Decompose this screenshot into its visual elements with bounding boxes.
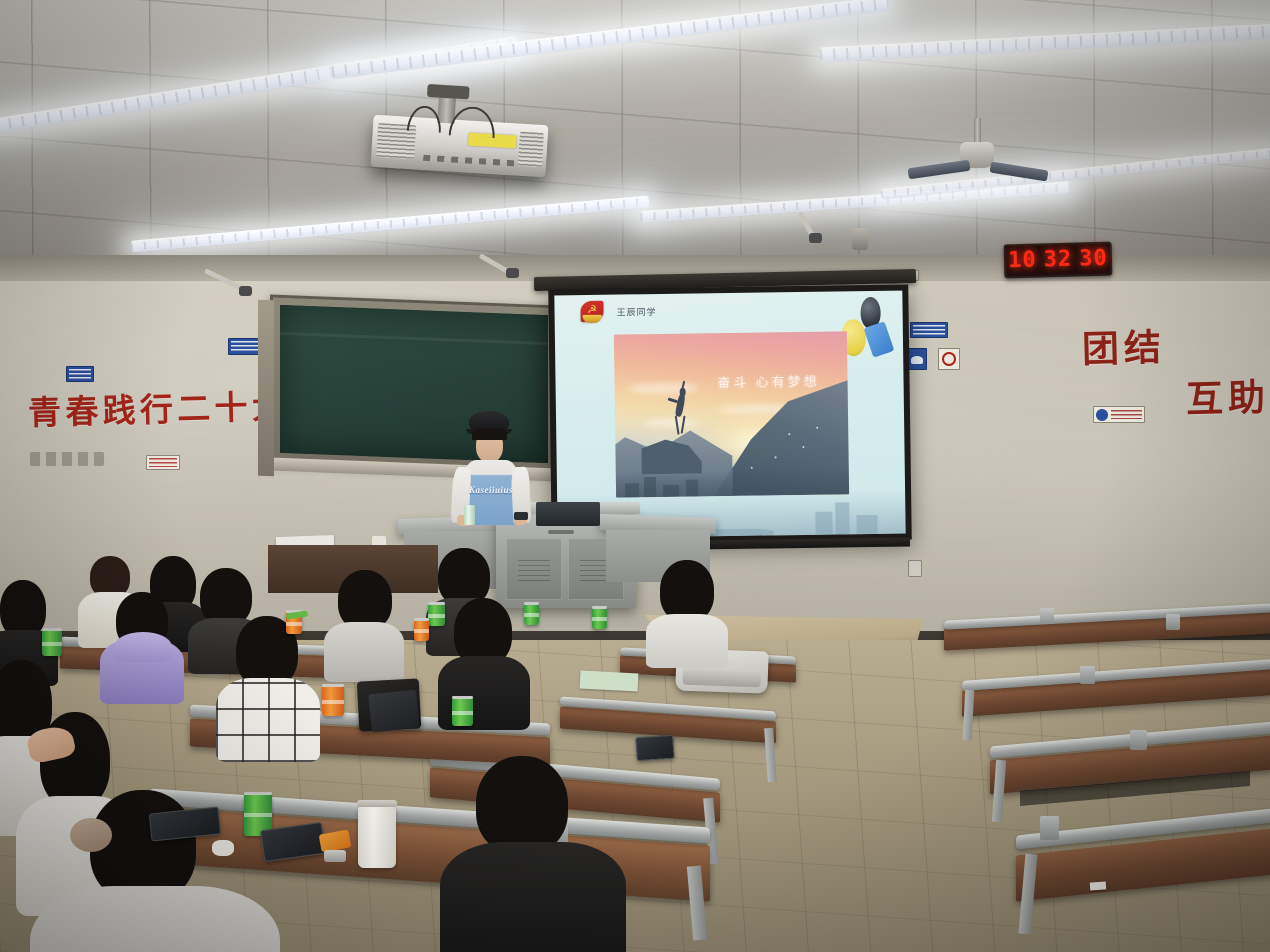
orange-soda-can xyxy=(322,686,344,716)
student-body xyxy=(30,886,280,952)
cpc-party-emblem-icon: ☭ xyxy=(580,301,603,322)
blackboard xyxy=(270,294,558,473)
camera-head xyxy=(239,286,252,296)
can-top xyxy=(322,684,344,687)
green-soda-can xyxy=(428,604,445,626)
student-hood xyxy=(114,632,172,662)
silhouette-leg-front xyxy=(674,415,679,434)
right-desk-row-1 xyxy=(944,606,1270,660)
can-label-band xyxy=(428,614,445,618)
bottle-cap xyxy=(357,800,397,807)
student-body xyxy=(216,678,320,762)
sign-text-lines xyxy=(913,325,945,335)
can-top xyxy=(244,792,272,795)
star-3 xyxy=(774,456,776,458)
ceiling-projector xyxy=(371,115,549,178)
desk-rail-clamp xyxy=(1040,608,1054,624)
green-paper-on-desk xyxy=(580,670,639,691)
desk-rail-clamp xyxy=(1040,816,1059,840)
silhouette-leg-back xyxy=(680,415,685,433)
camera-head xyxy=(809,233,822,243)
decoration-blue-shape xyxy=(864,321,895,358)
projector-ceiling-plate xyxy=(427,84,470,100)
silhouette-torso xyxy=(674,393,686,418)
jumping-person-silhouette xyxy=(666,384,697,440)
skyline-building-7 xyxy=(857,515,878,535)
orange-soda-can xyxy=(414,620,429,641)
silhouette-arm-back xyxy=(668,397,678,403)
can-top xyxy=(414,618,429,621)
blackboard-surface xyxy=(280,305,548,463)
remote-on-lectern xyxy=(514,512,528,520)
lectern-handle xyxy=(548,530,574,534)
can-top xyxy=(452,696,473,699)
digital-wall-clock: 10 32 30 xyxy=(1004,242,1113,279)
desk-rail-clamp xyxy=(1130,730,1147,750)
sign-text-lines xyxy=(69,369,91,379)
slide-presenter-label: 王辰同学 xyxy=(616,305,656,319)
sign-text-lines xyxy=(149,458,177,467)
right-desk-row-2 xyxy=(962,664,1270,724)
can-label-band xyxy=(286,622,302,626)
wall-speaker-right xyxy=(852,228,868,250)
presenter-jacket-script: Kaseiiuius xyxy=(469,485,513,495)
desk-rail-clamp xyxy=(1080,666,1095,684)
can-top xyxy=(592,606,607,609)
tissue-on-desk xyxy=(212,840,234,856)
backpack-front-pocket xyxy=(683,668,761,687)
student-head xyxy=(338,570,392,630)
student-body xyxy=(646,614,728,668)
desk-rail-clamp xyxy=(1166,614,1180,630)
left-wall-blue-sign xyxy=(66,366,94,382)
camera-head xyxy=(506,268,519,278)
lower-sign-emblem xyxy=(1096,409,1108,421)
earbuds-case xyxy=(324,850,346,862)
left-wall-socket-strip xyxy=(30,452,104,466)
slide-image-caption: 奋斗 心有梦想 xyxy=(717,371,820,391)
right-wall-lower-sign xyxy=(1093,406,1145,423)
left-wall-lower-sign xyxy=(146,455,180,470)
emblem-hammer-sickle-glyph: ☭ xyxy=(586,305,597,316)
clock-minutes: 32 xyxy=(1043,249,1072,272)
clock-seconds: 30 xyxy=(1079,248,1108,271)
star-2 xyxy=(802,446,804,448)
pictogram-red-sign xyxy=(938,348,960,370)
right-desk-row-3 xyxy=(990,730,1270,802)
can-label-band xyxy=(42,642,62,646)
projector-vent-right xyxy=(518,132,544,167)
green-soda-can xyxy=(524,604,539,625)
star-4 xyxy=(816,426,818,428)
notice-blue-sign xyxy=(910,322,948,338)
left-wall-calligraphy: 青春践行二十大 xyxy=(27,380,289,435)
red-prohibition-circle xyxy=(942,352,956,366)
fan-downrod xyxy=(974,118,981,144)
paper-scrap-on-desk xyxy=(1090,881,1107,890)
white-bottle xyxy=(358,806,396,868)
right-wall-calligraphy-top: 团结 xyxy=(1081,317,1166,373)
skyline-building-5 xyxy=(815,512,833,535)
can-label-band xyxy=(592,617,607,621)
can-label-band xyxy=(524,613,539,617)
teacher-monitor xyxy=(536,502,600,526)
sign-text-lines xyxy=(231,341,261,352)
student-body xyxy=(324,622,404,682)
green-soda-can xyxy=(592,608,607,629)
green-soda-can xyxy=(42,630,62,656)
can-label-band xyxy=(322,700,344,704)
smartphone-on-mid-desk[interactable] xyxy=(635,735,675,762)
student-body xyxy=(440,842,626,952)
can-label-band xyxy=(452,711,473,715)
emblem-gold-base xyxy=(583,315,602,323)
can-top xyxy=(524,602,539,605)
skyline-building-6 xyxy=(836,502,850,535)
student-hair-clip xyxy=(70,818,112,852)
lectern-vent-left xyxy=(518,560,550,582)
slide-hero-image: 奋斗 心有梦想 xyxy=(614,331,849,497)
projector-buttons xyxy=(423,155,519,167)
wall-outlet-lower-right xyxy=(908,560,922,577)
water-bottle-on-lectern xyxy=(464,505,475,525)
blue-sign-pictogram xyxy=(911,356,923,364)
presenter-hair xyxy=(472,428,507,440)
blackboard-side-panel xyxy=(258,300,274,477)
can-label-band xyxy=(244,813,272,817)
student-head xyxy=(660,560,714,622)
green-soda-can xyxy=(452,698,473,726)
right-desk-row-4 xyxy=(1016,820,1270,910)
hoodie-logo xyxy=(474,786,552,820)
lower-sign-text xyxy=(1111,410,1142,419)
clock-hours: 10 xyxy=(1008,250,1037,273)
classroom-photo-scene: 青春践行二十大 团结 互助 xyxy=(0,0,1270,952)
can-top xyxy=(428,602,445,605)
can-top xyxy=(42,628,62,631)
laptop-dark-on-desk xyxy=(368,690,420,733)
star-1 xyxy=(788,433,790,435)
can-label-band xyxy=(414,629,429,633)
right-wall-calligraphy-bottom: 互助 xyxy=(1185,367,1270,423)
